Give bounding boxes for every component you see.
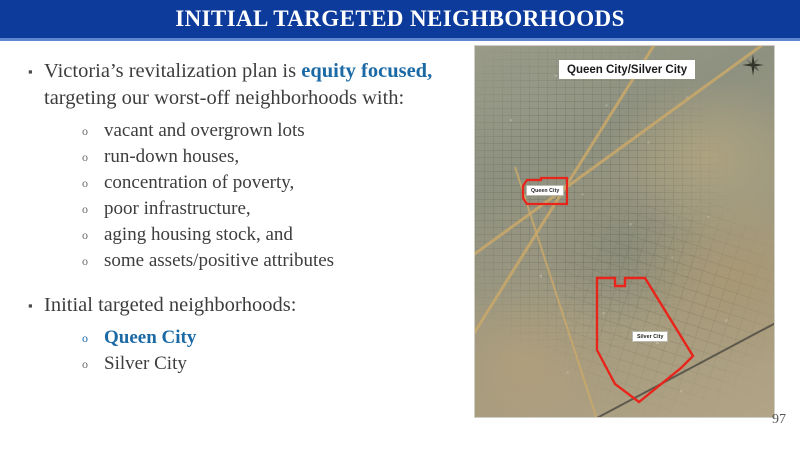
circle-bullet-icon: o — [80, 144, 104, 170]
list-item: o run-down houses, — [80, 144, 462, 170]
circle-bullet-icon: o — [80, 351, 104, 377]
title-banner-underline — [0, 38, 800, 41]
square-bullet-icon: ▪ — [22, 58, 44, 85]
list-item-label: aging housing stock, and — [104, 222, 462, 248]
list-item-label: some assets/positive attributes — [104, 248, 462, 274]
list-item: o some assets/positive attributes — [80, 248, 462, 274]
list-item-label: Silver City — [104, 351, 462, 377]
list-item-label: vacant and overgrown lots — [104, 118, 462, 144]
map-area-label-silver-city: Silver City — [632, 331, 668, 342]
circle-bullet-icon: o — [80, 222, 104, 248]
sub-bullet-list: o vacant and overgrown lots o run-down h… — [80, 118, 462, 274]
bullet-item-primary: ▪ Victoria’s revitalization plan is equi… — [22, 58, 462, 112]
compass-rose-icon — [742, 54, 764, 76]
list-item-queen-city: o Queen City — [80, 325, 462, 351]
presentation-slide: INITIAL TARGETED NEIGHBORHOODS ▪ Victori… — [0, 0, 800, 449]
aerial-map-image: Queen City/Silver City Queen City Silver… — [474, 45, 775, 418]
slide-title: INITIAL TARGETED NEIGHBORHOODS — [0, 0, 800, 38]
bullet-item-primary: ▪ Initial targeted neighborhoods: — [22, 292, 462, 319]
circle-bullet-icon: o — [80, 196, 104, 222]
page-number: 97 — [772, 412, 786, 428]
list-item: o vacant and overgrown lots — [80, 118, 462, 144]
square-bullet-icon: ▪ — [22, 292, 44, 319]
circle-bullet-icon: o — [80, 170, 104, 196]
slide-body: ▪ Victoria’s revitalization plan is equi… — [22, 58, 462, 377]
sub-bullet-list: o Queen City o Silver City — [80, 325, 462, 377]
circle-bullet-icon: o — [80, 325, 104, 351]
list-item: o concentration of poverty, — [80, 170, 462, 196]
bullet-text: Initial targeted neighborhoods: — [44, 292, 462, 319]
map-area-label-queen-city: Queen City — [526, 185, 564, 196]
bullet-text-segment: Victoria’s revitalization plan is — [44, 60, 301, 82]
bullet-text-line2: targeting our worst-off neighborhoods wi… — [44, 87, 404, 109]
circle-bullet-icon: o — [80, 248, 104, 274]
list-item-label: run-down houses, — [104, 144, 462, 170]
list-item-label: poor infrastructure, — [104, 196, 462, 222]
list-item: o aging housing stock, and — [80, 222, 462, 248]
list-item: o poor infrastructure, — [80, 196, 462, 222]
section-spacer — [22, 274, 462, 292]
bullet-text: Victoria’s revitalization plan is equity… — [44, 58, 462, 112]
map-caption-label: Queen City/Silver City — [559, 60, 695, 79]
list-item-label: Queen City — [104, 325, 462, 351]
list-item-silver-city: o Silver City — [80, 351, 462, 377]
list-item-label: concentration of poverty, — [104, 170, 462, 196]
circle-bullet-icon: o — [80, 118, 104, 144]
bullet-text-accent: equity focused, — [301, 60, 432, 82]
